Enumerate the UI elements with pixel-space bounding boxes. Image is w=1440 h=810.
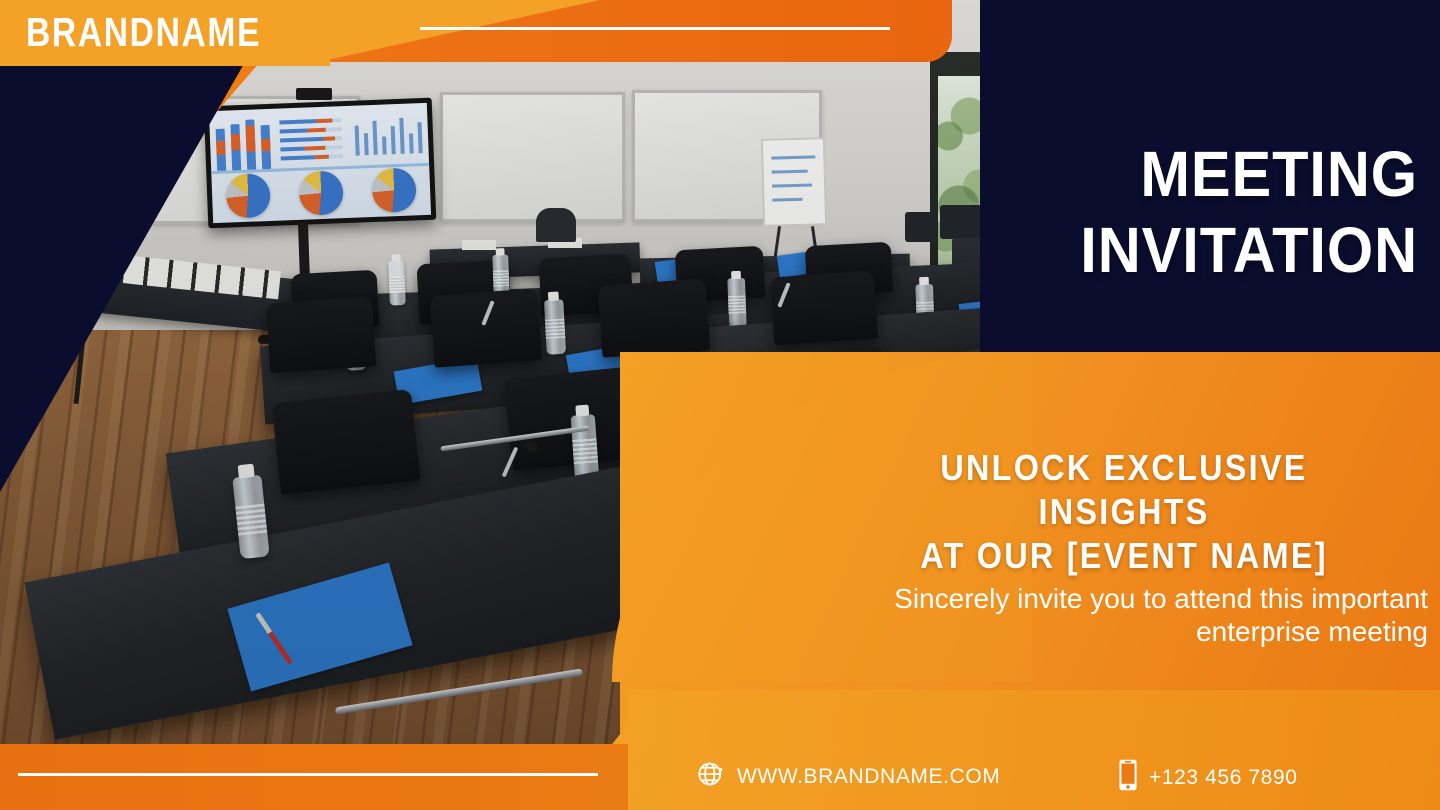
page-title: MEETING INVITATION [858,142,1418,282]
title-line-1: MEETING [897,142,1418,206]
contact-bar: WWW.BRANDNAME.COM +123 456 7890 [0,745,1440,810]
brand-name: BRANDNAME [26,10,261,54]
mobile-phone-icon [1118,759,1138,796]
subtitle-line-1: Sincerely invite you to attend this impo… [790,582,1428,615]
headline-line-2: AT OUR [EVENT NAME] [850,534,1397,578]
header-rule-icon [420,27,890,30]
title-line-2: INVITATION [897,218,1418,282]
subtitle: Sincerely invite you to attend this impo… [790,582,1428,648]
globe-icon [696,759,726,794]
header-light-wedge [300,0,600,66]
headline: UNLOCK EXCLUSIVE INSIGHTS AT OUR [EVENT … [820,446,1428,578]
subtitle-line-2: enterprise meeting [790,615,1428,648]
phone-contact[interactable]: +123 456 7890 [1118,759,1298,796]
phone-text: +123 456 7890 [1149,766,1298,790]
website-text: WWW.BRANDNAME.COM [737,765,1000,789]
website-contact[interactable]: WWW.BRANDNAME.COM [696,759,1000,794]
left-navy-wedge [0,62,245,492]
invitation-poster: BRANDNAME MEETING INVITATION UNLOCK EXCL… [0,0,1440,810]
headline-line-1: UNLOCK EXCLUSIVE INSIGHTS [850,446,1397,534]
